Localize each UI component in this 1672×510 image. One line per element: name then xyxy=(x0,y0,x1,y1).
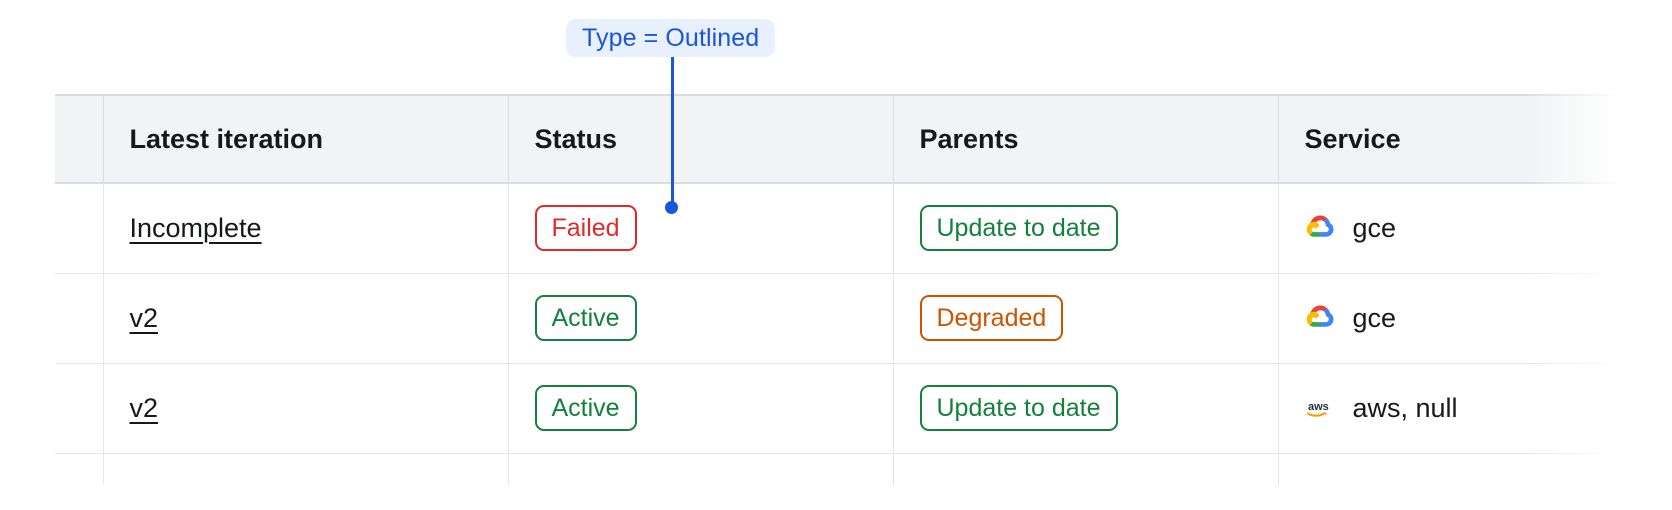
parents-badge[interactable]: Update to date xyxy=(920,385,1118,431)
status-badge[interactable]: Active xyxy=(535,385,637,431)
cell-service: gce xyxy=(1278,183,1620,273)
cell-latest-iteration: v2 xyxy=(103,273,508,363)
service-label: gce xyxy=(1353,303,1397,334)
iteration-link[interactable]: v2 xyxy=(130,393,159,423)
google-cloud-icon xyxy=(1305,304,1339,332)
parents-badge[interactable]: Update to date xyxy=(920,205,1118,251)
column-header-spacer xyxy=(55,95,103,183)
cell-latest-iteration: v2 xyxy=(103,363,508,453)
iterations-table: Latest iteration Status Parents Service … xyxy=(55,94,1620,485)
aws-icon: aws xyxy=(1305,394,1339,422)
column-header-latest-iteration[interactable]: Latest iteration xyxy=(103,95,508,183)
iteration-link[interactable]: Incomplete xyxy=(130,213,262,243)
cell-service: aws aws, null xyxy=(1278,363,1620,453)
cell-parents xyxy=(893,453,1278,485)
cell-status: Active xyxy=(508,363,893,453)
status-badge[interactable]: Active xyxy=(535,295,637,341)
parents-badge[interactable]: Degraded xyxy=(920,295,1064,341)
annotation-chip[interactable]: Type = Outlined xyxy=(566,19,775,57)
service-label: gce xyxy=(1353,213,1397,244)
google-cloud-icon xyxy=(1305,214,1339,242)
table-row: v2 Active Degraded xyxy=(55,273,1620,363)
cell-parents: Degraded xyxy=(893,273,1278,363)
cell-latest-iteration: Incomplete xyxy=(103,183,508,273)
row-spacer-cell xyxy=(55,183,103,273)
status-badge[interactable]: Failed xyxy=(535,205,637,251)
table-header: Latest iteration Status Parents Service xyxy=(55,95,1620,183)
table-body: Incomplete Failed Update to date xyxy=(55,183,1620,485)
iteration-link[interactable]: v2 xyxy=(130,303,159,333)
cell-latest-iteration xyxy=(103,453,508,485)
cell-service xyxy=(1278,453,1620,485)
table-header-row: Latest iteration Status Parents Service xyxy=(55,95,1620,183)
row-spacer-cell xyxy=(55,363,103,453)
cell-status: Active xyxy=(508,273,893,363)
row-spacer-cell xyxy=(55,273,103,363)
column-header-parents[interactable]: Parents xyxy=(893,95,1278,183)
table-row: v2 Active Update to date aws aws, xyxy=(55,363,1620,453)
column-header-service[interactable]: Service xyxy=(1278,95,1620,183)
cell-service: gce xyxy=(1278,273,1620,363)
cell-status xyxy=(508,453,893,485)
table-row: Incomplete Failed Update to date xyxy=(55,183,1620,273)
cell-status: Failed xyxy=(508,183,893,273)
row-spacer-cell xyxy=(55,453,103,485)
data-table-container: Latest iteration Status Parents Service … xyxy=(55,94,1620,510)
column-header-status[interactable]: Status xyxy=(508,95,893,183)
cell-parents: Update to date xyxy=(893,183,1278,273)
table-row-partial xyxy=(55,453,1620,485)
svg-text:aws: aws xyxy=(1308,401,1329,413)
cell-parents: Update to date xyxy=(893,363,1278,453)
service-label: aws, null xyxy=(1353,393,1458,424)
